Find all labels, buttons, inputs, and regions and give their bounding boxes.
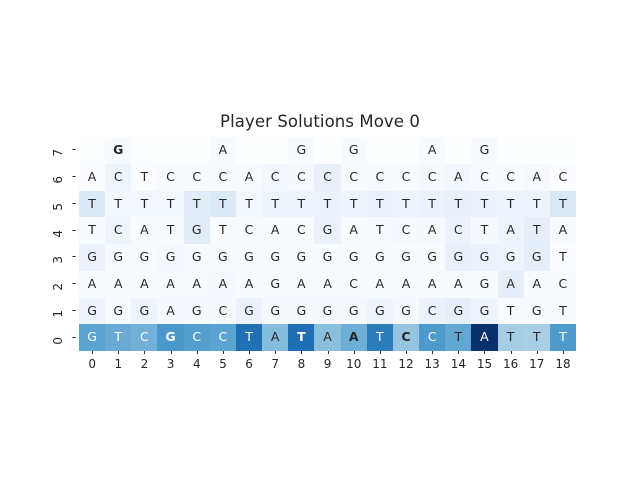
heatmap-cell: C xyxy=(471,164,497,191)
heatmap-cell: G xyxy=(314,244,340,271)
y-axis-tick-label: 7 xyxy=(51,149,65,175)
heatmap-cell: A xyxy=(341,217,367,244)
heatmap-cell: C xyxy=(393,324,419,351)
heatmap-cell: T xyxy=(105,191,131,218)
heatmap-cell: A xyxy=(314,324,340,351)
x-axis-tick-mark xyxy=(118,351,119,354)
heatmap-cell: G xyxy=(236,298,262,325)
heatmap-cell: T xyxy=(367,191,393,218)
heatmap-cell: G xyxy=(445,298,471,325)
heatmap-cell: C xyxy=(262,164,288,191)
heatmap-cell: T xyxy=(210,217,236,244)
heatmap-cell: G xyxy=(184,217,210,244)
x-axis-tick-mark xyxy=(144,351,145,354)
heatmap-plot-area: GAGGAGACTCCCACCCCCCCACCACTTTTTTTTTTTTTTT… xyxy=(79,137,576,351)
heatmap-cell: C xyxy=(419,324,445,351)
x-axis-tick-label: 7 xyxy=(262,357,288,371)
x-axis-tick-mark xyxy=(249,351,250,354)
heatmap-cell: T xyxy=(367,324,393,351)
x-axis-tick-label: 14 xyxy=(445,357,471,371)
heatmap-cell: A xyxy=(79,164,105,191)
heatmap-cell: G xyxy=(131,298,157,325)
x-axis-tick-label: 3 xyxy=(158,357,184,371)
heatmap-cell: C xyxy=(419,164,445,191)
heatmap-cell: A xyxy=(262,324,288,351)
heatmap-cell: T xyxy=(105,324,131,351)
heatmap-cell: T xyxy=(498,191,524,218)
heatmap-cell: G xyxy=(367,298,393,325)
heatmap-cell: T xyxy=(524,324,550,351)
heatmap-cell: T xyxy=(79,217,105,244)
x-axis-tick-label: 17 xyxy=(524,357,550,371)
heatmap-cell xyxy=(131,137,157,164)
heatmap-cell: T xyxy=(393,191,419,218)
x-axis-tick-mark xyxy=(275,351,276,354)
x-axis-tick-mark xyxy=(458,351,459,354)
x-axis-tick-label: 15 xyxy=(471,357,497,371)
heatmap-cell: C xyxy=(314,164,340,191)
x-axis-tick-mark xyxy=(171,351,172,354)
heatmap-cell: C xyxy=(367,164,393,191)
heatmap-cell: A xyxy=(524,164,550,191)
heatmap-cell: G xyxy=(79,244,105,271)
x-axis-tick-label: 13 xyxy=(419,357,445,371)
heatmap-cell: G xyxy=(184,244,210,271)
heatmap-cell: A xyxy=(157,271,183,298)
heatmap-cell: A xyxy=(498,271,524,298)
heatmap-cell: T xyxy=(471,217,497,244)
heatmap-cell: T xyxy=(288,324,314,351)
heatmap-cell: C xyxy=(550,164,576,191)
y-axis-tick-label: 0 xyxy=(51,337,65,363)
heatmap-cell: G xyxy=(314,217,340,244)
page-title: Player Solutions Move 0 xyxy=(0,112,640,131)
heatmap-cell: T xyxy=(498,324,524,351)
heatmap-cell: G xyxy=(288,137,314,164)
x-axis-tick-label: 1 xyxy=(105,357,131,371)
heatmap-cell: G xyxy=(445,244,471,271)
heatmap-cell: G xyxy=(341,244,367,271)
heatmap-cell xyxy=(157,137,183,164)
x-axis-tick-mark xyxy=(92,351,93,354)
x-axis-tick-label: 9 xyxy=(315,357,341,371)
heatmap-cell: C xyxy=(210,324,236,351)
heatmap-cell: G xyxy=(131,244,157,271)
heatmap-cell: A xyxy=(236,164,262,191)
heatmap-cell: A xyxy=(314,271,340,298)
heatmap-cell: T xyxy=(367,217,393,244)
heatmap-cell: T xyxy=(157,217,183,244)
heatmap-cell: G xyxy=(393,244,419,271)
heatmap-cell: A xyxy=(131,271,157,298)
heatmap-cell: G xyxy=(471,271,497,298)
y-axis-tick-mark: - xyxy=(70,276,78,290)
heatmap-cell: T xyxy=(524,217,550,244)
x-axis-tick-mark xyxy=(223,351,224,354)
heatmap-cell: C xyxy=(550,271,576,298)
heatmap-cell: C xyxy=(210,164,236,191)
y-axis-tick-mark: - xyxy=(70,223,78,237)
heatmap-cell: C xyxy=(184,324,210,351)
heatmap-cell xyxy=(524,137,550,164)
x-axis-tick-mark xyxy=(563,351,564,354)
x-axis-tick-label: 12 xyxy=(393,357,419,371)
heatmap-cell xyxy=(367,137,393,164)
heatmap-cell: C xyxy=(393,164,419,191)
x-axis-tick-label: 8 xyxy=(288,357,314,371)
y-axis-tick-mark: - xyxy=(70,330,78,344)
y-axis-tick-label: 1 xyxy=(51,310,65,336)
heatmap-cell: G xyxy=(367,244,393,271)
heatmap-cell xyxy=(184,137,210,164)
x-axis-tick-mark xyxy=(354,351,355,354)
heatmap-cell xyxy=(393,137,419,164)
heatmap-cell: A xyxy=(498,217,524,244)
x-axis-tick-mark xyxy=(197,351,198,354)
heatmap-cell: C xyxy=(157,164,183,191)
heatmap-cell: T xyxy=(550,324,576,351)
heatmap-cell: A xyxy=(210,137,236,164)
y-axis-tick-label: 4 xyxy=(51,230,65,256)
heatmap-cell: A xyxy=(419,271,445,298)
heatmap-cell xyxy=(314,137,340,164)
heatmap-cell: A xyxy=(393,271,419,298)
x-axis-tick-label: 18 xyxy=(550,357,576,371)
heatmap-cell xyxy=(236,137,262,164)
heatmap-cell: A xyxy=(341,324,367,351)
x-axis-tick-label: 16 xyxy=(498,357,524,371)
x-axis-tick-mark xyxy=(380,351,381,354)
heatmap-cell: A xyxy=(550,217,576,244)
heatmap-cell: G xyxy=(157,244,183,271)
x-axis-tick-mark xyxy=(432,351,433,354)
x-axis-tick-label: 2 xyxy=(131,357,157,371)
heatmap-cell: G xyxy=(314,298,340,325)
heatmap-cell xyxy=(498,137,524,164)
heatmap-cell: G xyxy=(105,137,131,164)
x-axis-tick-mark xyxy=(328,351,329,354)
heatmap-cell: T xyxy=(550,191,576,218)
heatmap-cell: T xyxy=(210,191,236,218)
heatmap-cell: T xyxy=(131,164,157,191)
heatmap-cell: A xyxy=(419,137,445,164)
heatmap-cell xyxy=(550,137,576,164)
heatmap-cell: T xyxy=(262,191,288,218)
heatmap-cell: A xyxy=(367,271,393,298)
y-axis-tick-label: 2 xyxy=(51,283,65,309)
heatmap-cell: C xyxy=(210,298,236,325)
heatmap-cell: T xyxy=(471,191,497,218)
heatmap-cell: C xyxy=(288,164,314,191)
heatmap-cell: T xyxy=(419,191,445,218)
x-axis-tick-mark xyxy=(406,351,407,354)
heatmap-cell: A xyxy=(236,271,262,298)
heatmap-cell: T xyxy=(341,191,367,218)
heatmap-cell: T xyxy=(498,298,524,325)
heatmap-cell: A xyxy=(157,298,183,325)
heatmap-cell: G xyxy=(79,324,105,351)
heatmap-cell: G xyxy=(419,244,445,271)
heatmap-cell: C xyxy=(105,164,131,191)
x-axis-tick-mark xyxy=(511,351,512,354)
heatmap-cell: T xyxy=(157,191,183,218)
heatmap-cell: G xyxy=(471,137,497,164)
heatmap-cell: G xyxy=(184,298,210,325)
y-axis-tick-mark: - xyxy=(70,142,78,156)
heatmap-cell: G xyxy=(262,271,288,298)
y-axis-tick-mark: - xyxy=(70,169,78,183)
heatmap-cell: C xyxy=(184,164,210,191)
heatmap-cell: A xyxy=(210,271,236,298)
x-axis-tick-label: 10 xyxy=(341,357,367,371)
y-axis-tick-label: 5 xyxy=(51,203,65,229)
heatmap-cell: C xyxy=(419,298,445,325)
heatmap-cell: G xyxy=(471,244,497,271)
heatmap-cell: A xyxy=(105,271,131,298)
heatmap-cell xyxy=(445,137,471,164)
heatmap-cell: T xyxy=(288,191,314,218)
x-axis-tick-label: 4 xyxy=(184,357,210,371)
heatmap-cell: C xyxy=(236,217,262,244)
heatmap-cell: T xyxy=(550,244,576,271)
heatmap-cell: T xyxy=(550,298,576,325)
heatmap-cell: T xyxy=(236,324,262,351)
heatmap-cell: T xyxy=(314,191,340,218)
x-axis-tick-mark xyxy=(484,351,485,354)
heatmap-cell: T xyxy=(131,191,157,218)
heatmap-cell: G xyxy=(210,244,236,271)
heatmap-cell: T xyxy=(445,324,471,351)
heatmap-cell: A xyxy=(445,164,471,191)
heatmap-cell: T xyxy=(79,191,105,218)
heatmap-cell: C xyxy=(445,217,471,244)
heatmap-cell: A xyxy=(131,217,157,244)
heatmap-cell: C xyxy=(105,217,131,244)
heatmap-cell: T xyxy=(524,191,550,218)
heatmap-cell: G xyxy=(262,244,288,271)
x-axis-tick-label: 11 xyxy=(367,357,393,371)
heatmap-cell: A xyxy=(419,217,445,244)
heatmap-cell: A xyxy=(79,271,105,298)
heatmap-cell: G xyxy=(236,244,262,271)
heatmap-grid: GAGGAGACTCCCACCCCCCCACCACTTTTTTTTTTTTTTT… xyxy=(79,137,576,351)
x-axis-tick-label: 6 xyxy=(236,357,262,371)
heatmap-cell: C xyxy=(131,324,157,351)
heatmap-cell: C xyxy=(393,217,419,244)
heatmap-cell: G xyxy=(79,298,105,325)
heatmap-cell: T xyxy=(445,191,471,218)
heatmap-figure: Player Solutions Move 0 7-6-5-4-3-2-1-0-… xyxy=(0,0,640,480)
heatmap-cell: G xyxy=(157,324,183,351)
heatmap-cell: C xyxy=(341,271,367,298)
heatmap-cell: G xyxy=(262,298,288,325)
heatmap-cell: G xyxy=(498,244,524,271)
heatmap-cell xyxy=(262,137,288,164)
heatmap-cell: T xyxy=(184,191,210,218)
y-axis-tick-mark: - xyxy=(70,303,78,317)
y-axis-tick-label: 3 xyxy=(51,256,65,282)
x-axis-tick-mark xyxy=(301,351,302,354)
heatmap-cell: G xyxy=(524,298,550,325)
heatmap-cell: A xyxy=(184,271,210,298)
heatmap-cell: G xyxy=(288,298,314,325)
heatmap-cell xyxy=(79,137,105,164)
heatmap-cell: A xyxy=(445,271,471,298)
heatmap-cell: G xyxy=(288,244,314,271)
heatmap-cell: G xyxy=(341,298,367,325)
heatmap-cell: A xyxy=(471,324,497,351)
heatmap-cell: G xyxy=(105,244,131,271)
heatmap-cell: T xyxy=(236,191,262,218)
heatmap-cell: G xyxy=(341,137,367,164)
heatmap-cell: C xyxy=(288,217,314,244)
y-axis-tick-mark: - xyxy=(70,196,78,210)
heatmap-cell: G xyxy=(524,244,550,271)
x-axis-tick-mark xyxy=(537,351,538,354)
heatmap-cell: C xyxy=(341,164,367,191)
heatmap-cell: G xyxy=(105,298,131,325)
heatmap-cell: A xyxy=(262,217,288,244)
y-axis-tick-label: 6 xyxy=(51,176,65,202)
heatmap-cell: C xyxy=(498,164,524,191)
x-axis-tick-label: 5 xyxy=(210,357,236,371)
heatmap-cell: A xyxy=(524,271,550,298)
heatmap-cell: G xyxy=(471,298,497,325)
heatmap-cell: A xyxy=(288,271,314,298)
x-axis-tick-label: 0 xyxy=(79,357,105,371)
y-axis-tick-mark: - xyxy=(70,249,78,263)
heatmap-cell: G xyxy=(393,298,419,325)
